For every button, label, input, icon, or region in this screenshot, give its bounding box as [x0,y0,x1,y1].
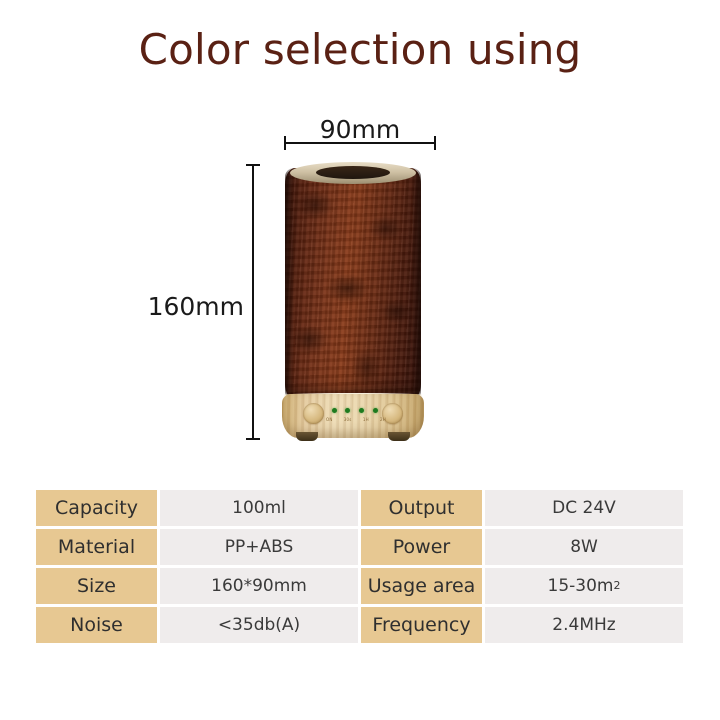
spec-value: <35db(A) [160,607,358,643]
table-row: Capacity 100ml Output DC 24V [36,490,683,526]
spec-pair-right: Power 8W [361,529,683,565]
power-button-icon [303,403,324,424]
spec-value: 160*90mm [160,568,358,604]
spec-value: 8W [485,529,683,565]
spec-value: 100ml [160,490,358,526]
spec-pair-right: Usage area 15-30m2 [361,568,683,604]
spec-pair-left: Noise <35db(A) [36,607,358,643]
spec-key: Material [36,529,157,565]
height-dimension-label: 160mm [140,293,244,321]
height-dimension-line [252,164,254,440]
table-row: Material PP+ABS Power 8W [36,529,683,565]
led-indicator-row [332,408,378,414]
spec-pair-left: Material PP+ABS [36,529,358,565]
led-label-row: ON 30s 1H 2H [326,417,386,425]
led-indicator [359,408,364,413]
spec-value: 2.4MHz [485,607,683,643]
spec-key: Usage area [361,568,482,604]
spec-value-usage-area: 15-30m2 [485,568,683,604]
led-indicator [345,408,350,413]
diffuser-bark-body [285,168,421,400]
spec-key: Power [361,529,482,565]
led-label: ON [326,417,333,425]
spec-key: Capacity [36,490,157,526]
spec-pair-left: Capacity 100ml [36,490,358,526]
spec-value: DC 24V [485,490,683,526]
spec-key: Frequency [361,607,482,643]
table-row: Size 160*90mm Usage area 15-30m2 [36,568,683,604]
product-stage: 90mm 160mm ON 30s 1H 2H [0,110,720,480]
spec-key: Output [361,490,482,526]
spec-pair-right: Frequency 2.4MHz [361,607,683,643]
led-label: 2H [380,417,386,425]
led-indicator [373,408,378,413]
diffuser-mist-outlet [316,166,390,179]
bark-shadow-right [412,168,421,400]
product-image-diffuser: ON 30s 1H 2H [282,162,424,440]
base-foot-right [388,432,410,441]
specification-table: Capacity 100ml Output DC 24V Material PP… [36,490,683,643]
spec-key: Noise [36,607,157,643]
base-foot-left [296,432,318,441]
bark-shadow-left [285,168,294,400]
width-dimension-line [284,142,436,144]
spec-value-text: 15-30m [548,576,614,596]
table-row: Noise <35db(A) Frequency 2.4MHz [36,607,683,643]
spec-key: Size [36,568,157,604]
page-title: Color selection using [0,24,720,76]
led-label: 1H [363,417,369,425]
led-indicator [332,408,337,413]
led-label: 30s [344,417,352,425]
width-dimension-label: 90mm [284,116,436,144]
spec-pair-left: Size 160*90mm [36,568,358,604]
spec-pair-right: Output DC 24V [361,490,683,526]
spec-value: PP+ABS [160,529,358,565]
